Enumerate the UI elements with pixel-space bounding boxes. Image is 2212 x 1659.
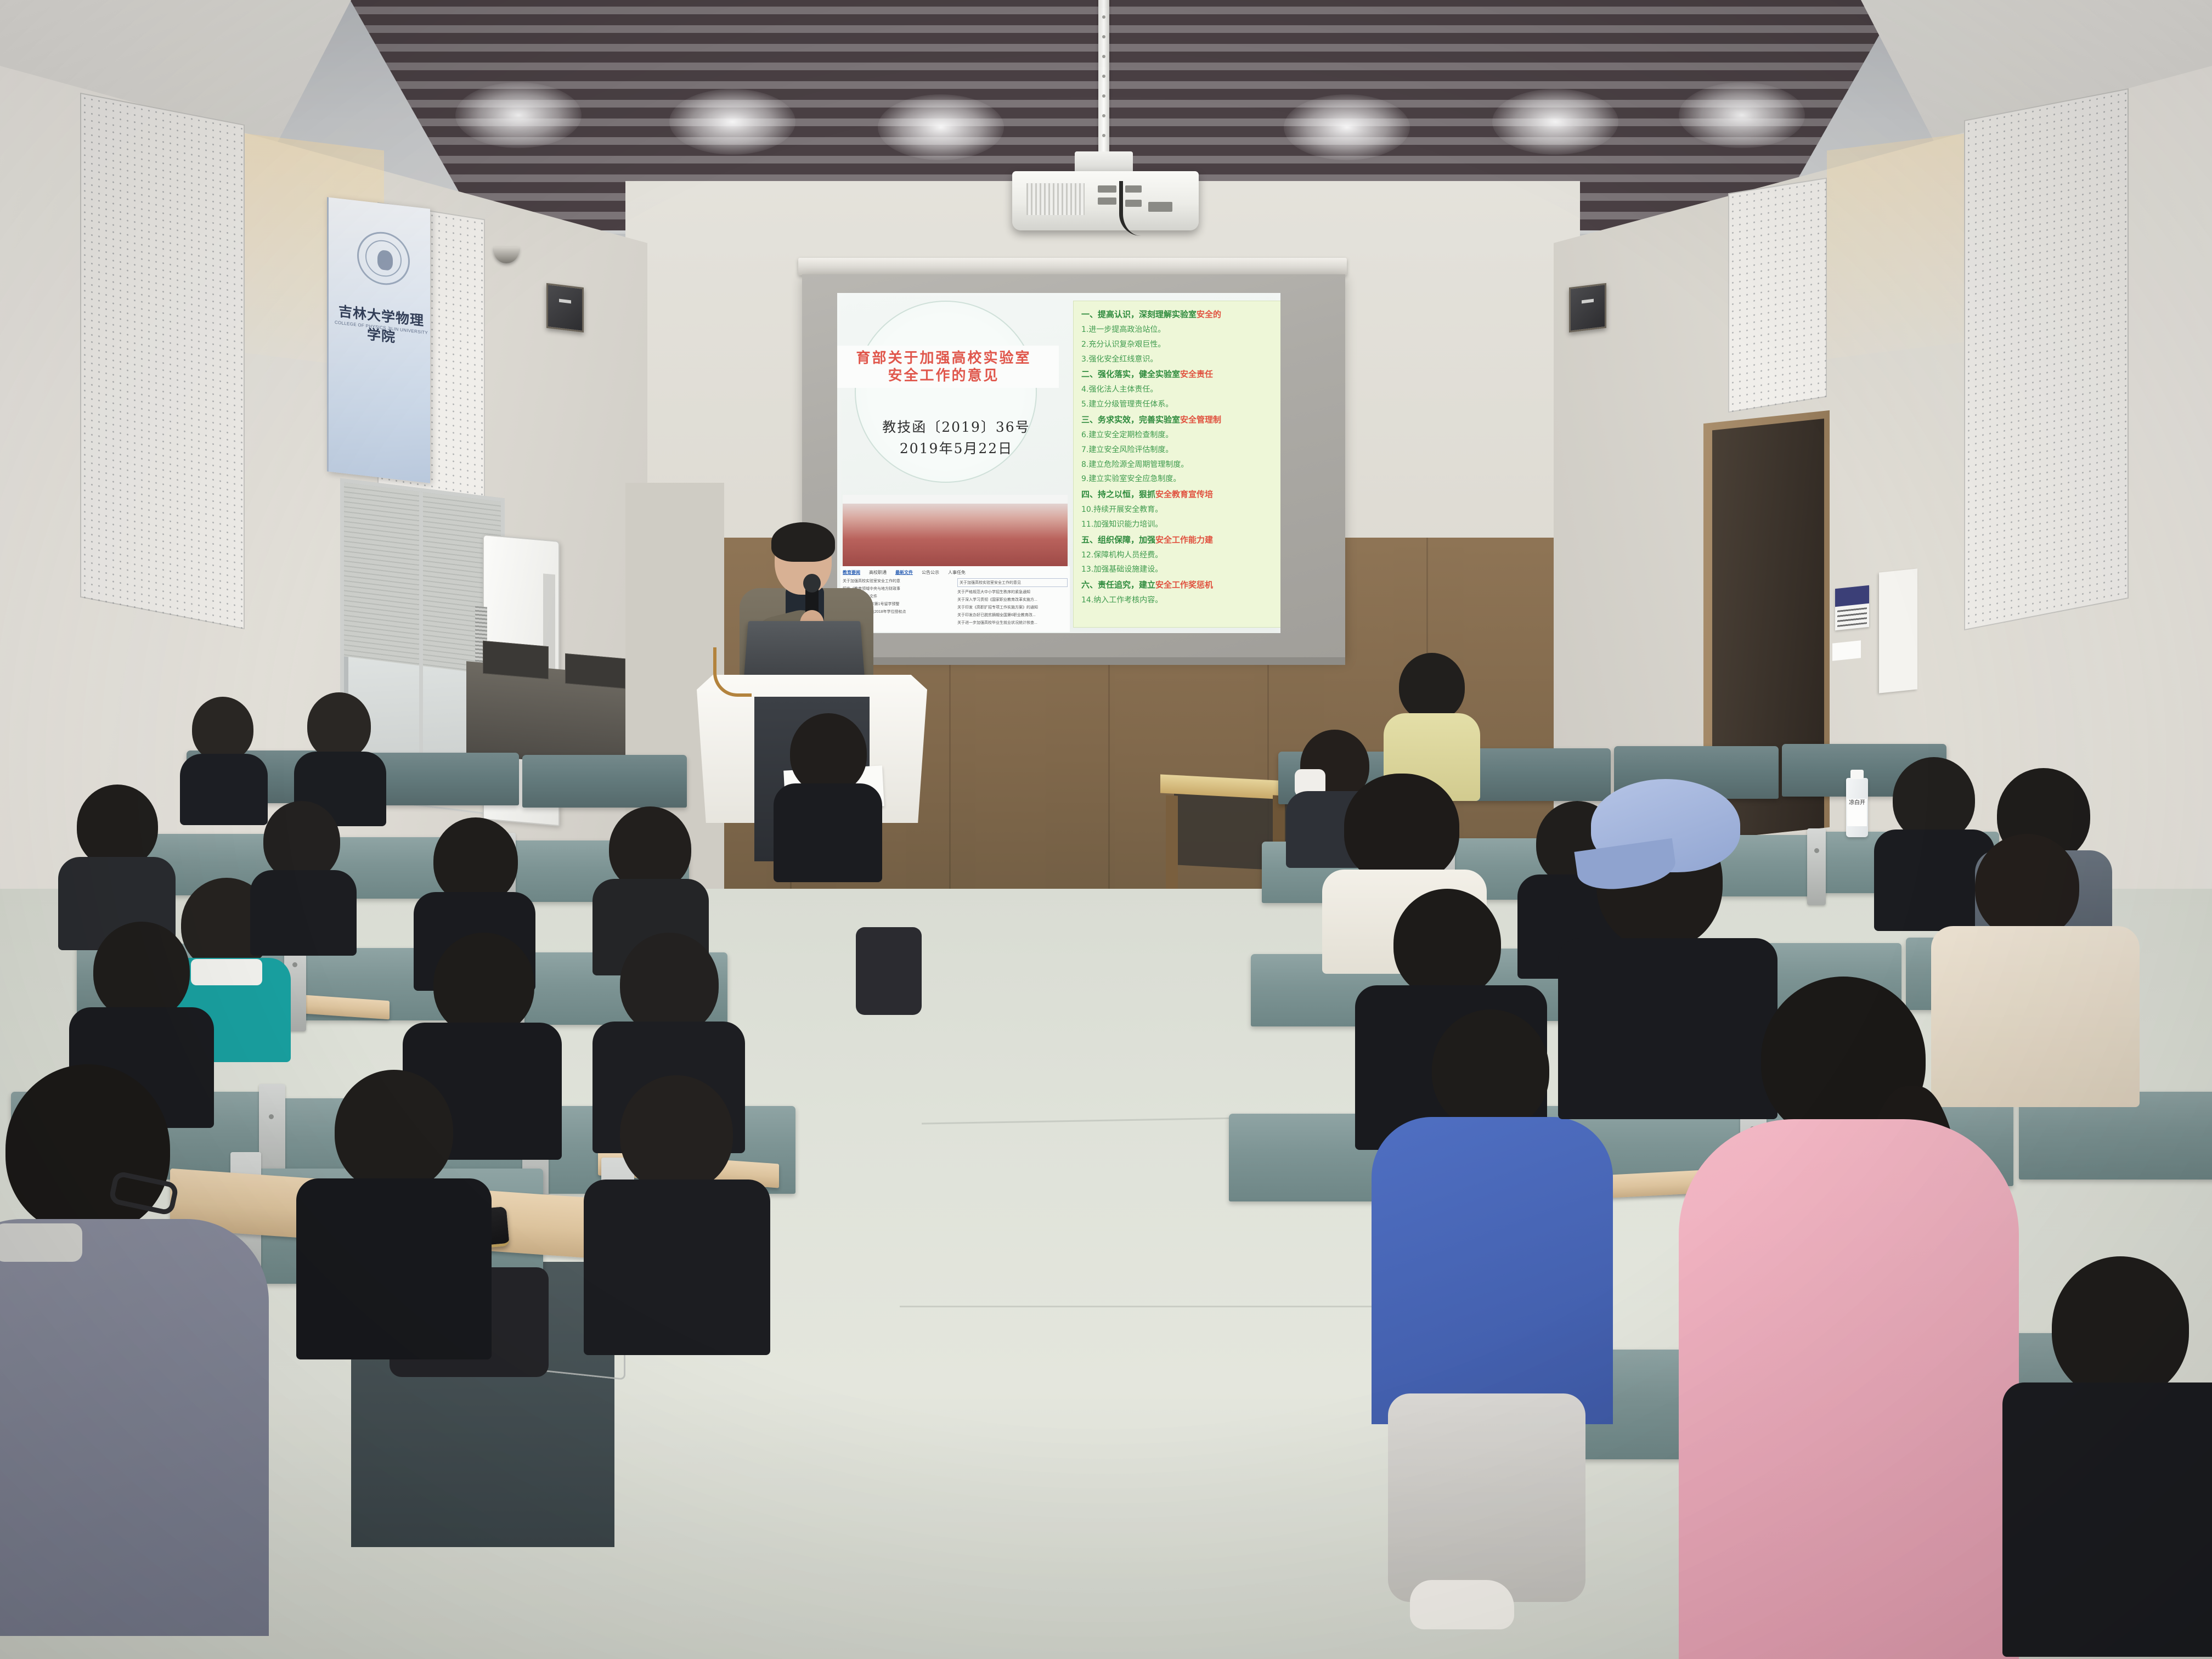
person-head xyxy=(1432,1009,1549,1130)
person-torso xyxy=(774,783,882,882)
person-head xyxy=(335,1070,453,1192)
ceiling-downlight xyxy=(1492,89,1618,155)
department-banner: 吉林大学物理学院 COLLEGE OF PHYSICS JILIN UNIVER… xyxy=(327,197,430,483)
person-torso xyxy=(0,1219,269,1636)
website-list-item[interactable]: 关于加强高校实验室安全工作的意见 xyxy=(957,578,1068,587)
person-head xyxy=(620,933,719,1035)
person-torso xyxy=(250,870,357,956)
door-sign-header xyxy=(1835,585,1869,607)
person-head xyxy=(609,806,691,891)
slide-document-number: 教技函〔2019〕36号 xyxy=(849,418,1063,437)
presenter-hair xyxy=(771,522,835,562)
podium-laptop[interactable] xyxy=(744,621,865,679)
slide-outline-item: 14.纳入工作考核内容。 xyxy=(1081,593,1280,608)
slide-title-line2: 安全工作的意见 xyxy=(837,368,1059,385)
website-list-item[interactable]: 关于印发《高职扩招专项工作实施方案》的通知 xyxy=(957,605,1068,610)
website-nav-item[interactable]: 公告公示 xyxy=(922,569,939,575)
projector-port[interactable] xyxy=(1148,202,1172,212)
slide-outline-item: 12.保障机构人员经费。 xyxy=(1081,548,1280,563)
person-head xyxy=(433,817,518,904)
person-head xyxy=(1893,757,1975,842)
website-nav-item[interactable]: 最新文件 xyxy=(895,569,913,575)
projector-mount-rod xyxy=(1098,0,1109,151)
wall-speaker-right xyxy=(1569,283,1606,332)
slide-outline-item: 7.建立安全风险评估制度。 xyxy=(1081,443,1280,458)
slide-outline-item: 1.进一步提高政治站位。 xyxy=(1081,323,1280,337)
university-seal-icon xyxy=(357,229,410,288)
screen-roller-casing xyxy=(798,258,1347,275)
website-list-item[interactable]: 关于进一步加强高校毕业生就业状况统计核查... xyxy=(957,620,1068,625)
slide-outline-heading: 一、提高认识，深刻理解实验室安全的 xyxy=(1081,307,1280,323)
slide-title-block: 育部关于加强高校实验室 安全工作的意见 xyxy=(837,346,1059,388)
website-list-item[interactable]: 关于深入学习贯彻《国家职业教育改革实施方... xyxy=(957,597,1068,602)
slide-outline-heading: 五、组织保障，加强安全工作能力建 xyxy=(1081,532,1280,548)
person-torso xyxy=(296,1178,492,1359)
person-head xyxy=(307,692,371,759)
slide-outline-item: 4.强化法人主体责任。 xyxy=(1081,382,1280,397)
lecture-hall-photo: 吉林大学物理学院 COLLEGE OF PHYSICS JILIN UNIVER… xyxy=(0,0,2212,1659)
slide-outline-item: 9.建立实验室安全应急制度。 xyxy=(1081,472,1280,487)
projector-vent-grill xyxy=(1026,183,1085,215)
sweatpants xyxy=(1388,1393,1585,1602)
website-right-column: 关于加强高校实验室安全工作的意见关于严格规范大中小学招生秩序的紧急通知关于深入学… xyxy=(957,578,1068,628)
person-head xyxy=(1393,889,1501,998)
door-sign-secondary xyxy=(1832,640,1861,661)
slide-outline-heading: 三、务求实效，完善实验室安全管理制 xyxy=(1081,412,1280,428)
sneaker xyxy=(1410,1580,1514,1629)
person-torso xyxy=(180,754,268,825)
slide-date: 2019年5月22日 xyxy=(849,438,1063,458)
person-head xyxy=(2052,1256,2189,1399)
projector-port[interactable] xyxy=(1098,198,1116,205)
person-head xyxy=(93,922,190,1020)
slide-outline-item: 5.建立分级管理责任体系。 xyxy=(1081,397,1280,412)
white-collar xyxy=(191,959,262,985)
person-head xyxy=(77,785,158,868)
ceiling-downlight xyxy=(1679,82,1805,148)
projector-port[interactable] xyxy=(1098,185,1116,193)
seat-back[interactable] xyxy=(522,755,687,808)
ceiling-projector xyxy=(1012,171,1199,230)
equipment-box xyxy=(565,653,625,689)
person-torso xyxy=(2002,1383,2212,1657)
projection-screen: 育部关于加强高校实验室 安全工作的意见 教技函〔2019〕36号 2019年5月… xyxy=(802,274,1345,658)
person-torso xyxy=(1679,1119,2019,1659)
wall-white-panel xyxy=(1879,568,1917,693)
slide-outline-panel: 一、提高认识，深刻理解实验室安全的1.进一步提高政治站位。2.充分认识复杂艰巨性… xyxy=(1073,301,1280,628)
person-head xyxy=(433,933,534,1036)
ceiling-downlight xyxy=(669,89,795,155)
person-head xyxy=(620,1075,733,1192)
screen-bottom-weight-bar xyxy=(802,657,1345,665)
person-torso xyxy=(1558,938,1778,1119)
presentation-slide: 育部关于加强高校实验室 安全工作的意见 教技函〔2019〕36号 2019年5月… xyxy=(837,293,1280,633)
bag-on-seat xyxy=(856,927,922,1015)
slide-outline-heading: 二、强化落实，健全实验室安全责任 xyxy=(1081,366,1280,382)
slide-outline-item: 2.充分认识复杂艰巨性。 xyxy=(1081,337,1280,352)
seat-arm-frame xyxy=(1807,828,1826,905)
equipment-box xyxy=(483,641,549,679)
person-head xyxy=(1344,774,1459,883)
person-head xyxy=(192,697,253,761)
slide-outline-item: 3.强化安全红线意识。 xyxy=(1081,352,1280,367)
projector-cable xyxy=(1119,181,1150,236)
slide-outline-item: 6.建立安全定期检查制度。 xyxy=(1081,428,1280,443)
water-bottle[interactable]: 凉白开 xyxy=(1846,778,1868,837)
slide-outline-item: 10.持续开展安全教育。 xyxy=(1081,503,1280,517)
person-torso xyxy=(584,1180,770,1355)
website-nav-item[interactable]: 人事任免 xyxy=(948,569,966,575)
person-torso xyxy=(1372,1117,1613,1424)
ceiling-downlight xyxy=(1284,94,1410,160)
ceiling-downlight xyxy=(878,94,1004,160)
acoustic-panel-right-1 xyxy=(1964,88,2129,630)
person-head xyxy=(790,713,867,793)
slide-photo-browser-bar xyxy=(843,495,1068,504)
slide-outline-heading: 四、持之以恒，狠抓安全教育宣传培 xyxy=(1081,487,1280,503)
shirt-collar xyxy=(0,1223,82,1262)
slide-outline-item: 13.加强基础设施建设。 xyxy=(1081,562,1280,577)
person-head xyxy=(263,801,340,881)
ceiling-downlight xyxy=(455,82,582,148)
person-head xyxy=(1399,653,1465,721)
door-sign xyxy=(1835,585,1869,631)
person-head xyxy=(1975,834,2079,939)
acoustic-panel-left-1 xyxy=(80,93,245,629)
acoustic-panel-right-2 xyxy=(1728,178,1827,413)
slide-outline-item: 8.建立危险源全周期管理制度。 xyxy=(1081,458,1280,472)
bottle-label: 凉白开 xyxy=(1847,799,1867,826)
door-sign-text-lines xyxy=(1837,607,1867,627)
slide-title-line1: 育部关于加强高校实验室 xyxy=(837,350,1059,368)
website-list-item[interactable]: 关于严格规范大中小学招生秩序的紧急通知 xyxy=(957,589,1068,595)
slide-outline-item: 11.加强知识能力培训。 xyxy=(1081,517,1280,532)
slide-outline-heading: 六、责任追究，建立安全工作奖惩机 xyxy=(1081,577,1280,593)
website-list-item[interactable]: 关于印发办好已脱贫摘帽全国第6职业教育改... xyxy=(957,612,1068,618)
bottle-cap xyxy=(1850,770,1864,779)
person-torso xyxy=(1931,926,2140,1107)
wall-speaker-left xyxy=(546,283,584,332)
